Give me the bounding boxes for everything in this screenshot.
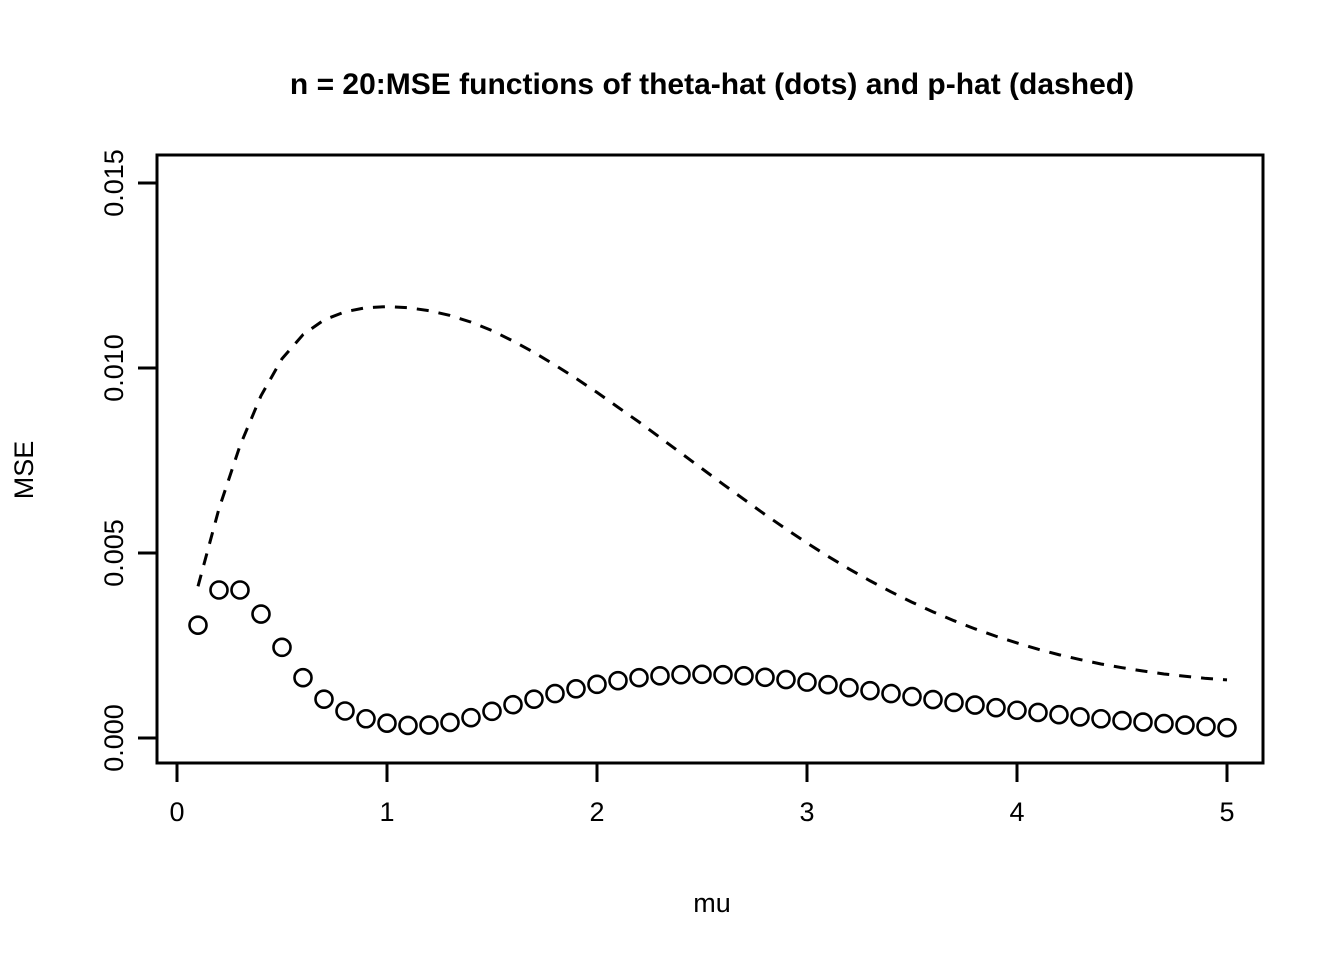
- theta-hat-data-point: [526, 691, 543, 708]
- theta-hat-data-point: [841, 679, 858, 696]
- theta-hat-data-point: [883, 685, 900, 702]
- theta-hat-data-point: [1198, 718, 1215, 735]
- theta-hat-data-point: [694, 666, 711, 683]
- theta-hat-data-point: [484, 703, 501, 720]
- p-hat-dashed-curve: [198, 307, 1227, 680]
- theta-hat-data-point: [1051, 706, 1068, 723]
- mse-scatter-chart: n = 20:MSE functions of theta-hat (dots)…: [0, 0, 1344, 960]
- theta-hat-data-point: [295, 669, 312, 686]
- theta-hat-data-point: [1156, 715, 1173, 732]
- y-axis: 0.0000.0050.0100.015: [99, 149, 157, 772]
- theta-hat-data-point: [442, 714, 459, 731]
- theta-hat-data-point: [253, 606, 270, 623]
- x-axis-label: mu: [693, 888, 731, 918]
- theta-hat-data-point: [190, 617, 207, 634]
- theta-hat-data-point: [715, 666, 732, 683]
- theta-hat-data-point: [358, 710, 375, 727]
- theta-hat-data-point: [925, 691, 942, 708]
- theta-hat-data-point: [1009, 702, 1026, 719]
- x-tick-label: 0: [169, 797, 184, 827]
- y-tick-label: 0.005: [99, 519, 129, 587]
- r-plot-canvas: n = 20:MSE functions of theta-hat (dots)…: [0, 0, 1344, 960]
- theta-hat-data-point: [862, 682, 879, 699]
- theta-hat-data-point: [1135, 714, 1152, 731]
- series-p-hat-dashed: [198, 307, 1227, 680]
- theta-hat-data-point: [211, 582, 228, 599]
- x-tick-label: 5: [1219, 797, 1234, 827]
- theta-hat-data-point: [904, 688, 921, 705]
- theta-hat-data-point: [232, 582, 249, 599]
- theta-hat-data-point: [652, 667, 669, 684]
- chart-title: n = 20:MSE functions of theta-hat (dots)…: [290, 68, 1134, 101]
- y-axis-label: MSE: [9, 441, 39, 500]
- theta-hat-data-point: [463, 709, 480, 726]
- theta-hat-data-point: [1072, 708, 1089, 725]
- x-axis: 012345: [169, 763, 1234, 827]
- theta-hat-data-point: [589, 676, 606, 693]
- theta-hat-data-point: [946, 694, 963, 711]
- theta-hat-data-point: [421, 717, 438, 734]
- theta-hat-data-point: [316, 691, 333, 708]
- x-tick-label: 4: [1009, 797, 1024, 827]
- x-tick-label: 2: [589, 797, 604, 827]
- theta-hat-data-point: [778, 671, 795, 688]
- y-tick-label: 0.000: [99, 704, 129, 772]
- theta-hat-data-point: [610, 672, 627, 689]
- theta-hat-data-point: [988, 699, 1005, 716]
- theta-hat-data-point: [274, 639, 291, 656]
- theta-hat-data-point: [1114, 712, 1131, 729]
- theta-hat-data-point: [757, 669, 774, 686]
- theta-hat-data-point: [1177, 717, 1194, 734]
- x-tick-label: 3: [799, 797, 814, 827]
- x-tick-label: 1: [379, 797, 394, 827]
- theta-hat-data-point: [400, 717, 417, 734]
- theta-hat-data-point: [673, 666, 690, 683]
- theta-hat-data-point: [967, 697, 984, 714]
- y-tick-label: 0.010: [99, 334, 129, 402]
- theta-hat-data-point: [820, 676, 837, 693]
- theta-hat-data-point: [1030, 704, 1047, 721]
- theta-hat-data-point: [1093, 710, 1110, 727]
- theta-hat-data-point: [1219, 719, 1236, 736]
- theta-hat-data-point: [736, 667, 753, 684]
- y-tick-label: 0.015: [99, 149, 129, 217]
- theta-hat-data-point: [799, 674, 816, 691]
- theta-hat-data-point: [505, 696, 522, 713]
- theta-hat-data-point: [379, 715, 396, 732]
- theta-hat-data-point: [631, 669, 648, 686]
- theta-hat-data-point: [547, 685, 564, 702]
- theta-hat-data-point: [568, 680, 585, 697]
- theta-hat-data-point: [337, 702, 354, 719]
